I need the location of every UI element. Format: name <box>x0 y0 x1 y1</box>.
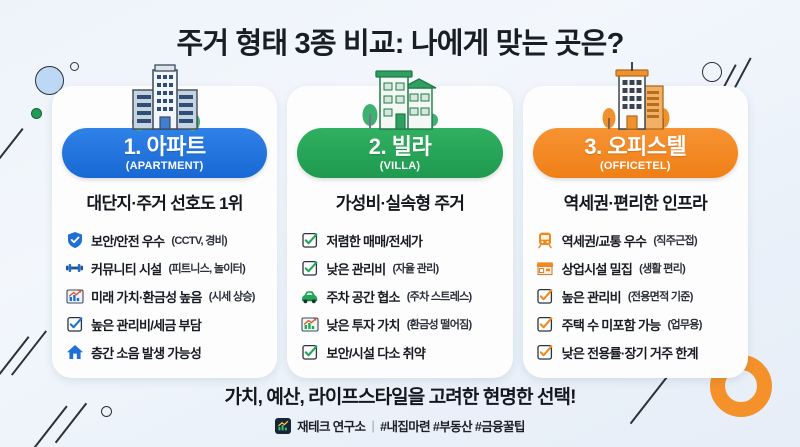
feature-item: 높은 관리비 (전용면적 기준) <box>536 282 735 310</box>
feature-text: 보안/안전 우수 <box>91 231 164 250</box>
feature-item: 상업시설 밀집 (생활 편리) <box>536 254 735 282</box>
checkbox-check-icon <box>536 287 555 306</box>
decor-dot-green <box>31 108 42 119</box>
checkbox-check-icon <box>536 315 555 334</box>
feature-text: 커뮤니티 시설 <box>91 259 161 278</box>
checkbox-check-icon <box>300 259 319 278</box>
feature-text: 보안/시설 다소 취약 <box>326 343 425 362</box>
card-officetel-subtitle: (OFFICETEL) <box>533 160 738 172</box>
bar-chart-up-icon <box>65 287 84 306</box>
house-icon <box>65 343 84 362</box>
footer-meta: 재테크 연구소 | #내집마련 #부동산 #금융꿀팁 <box>0 416 800 435</box>
feature-text: 높은 관리비 <box>562 287 621 306</box>
feature-text: 높은 관리비/세금 부담 <box>91 315 201 334</box>
card-apartment-feature-list: 보안/안전 우수 (CCTV, 경비) 커뮤니티 시설 (피트니스, 놀이터) … <box>52 226 277 366</box>
feature-item: 낮은 관리비 (자율 관리) <box>300 254 499 282</box>
feature-item: 보안/안전 우수 (CCTV, 경비) <box>65 226 264 254</box>
feature-item: 미래 가치·환금성 높음 (시세 상승) <box>65 282 264 310</box>
car-icon <box>300 287 319 306</box>
page-title: 주거 형태 3종 비교: 나에게 맞는 곳은? <box>0 20 800 62</box>
card-apartment-pill: 1. 아파트 (APARTMENT) <box>62 128 267 178</box>
villa-building-illustration <box>287 60 512 132</box>
feature-note: (시세 상승) <box>209 288 255 304</box>
train-icon <box>536 231 555 250</box>
brand-name: 재테크 연구소 <box>297 416 365 435</box>
feature-note: (전용면적 기준) <box>628 288 693 304</box>
feature-item: 낮은 전용률·장기 거주 한계 <box>536 338 735 366</box>
card-villa-pill: 2. 빌라 (VILLA) <box>297 128 502 178</box>
card-villa[interactable]: 2. 빌라 (VILLA) 가성비·실속형 주거 저렴한 매매/전세가 낮은 관… <box>287 86 512 378</box>
card-villa-feature-list: 저렴한 매매/전세가 낮은 관리비 (자율 관리) 주차 공간 협소 (주차 스… <box>287 226 512 366</box>
apartment-building-illustration <box>52 60 277 132</box>
comparison-cards: 1. 아파트 (APARTMENT) 대단지·주거 선호도 1위 보안/안전 우… <box>52 86 748 378</box>
bar-chart-up-icon <box>300 315 319 334</box>
feature-note: (업무용) <box>667 316 701 332</box>
feature-text: 낮은 투자 가치 <box>326 315 399 334</box>
feature-note: (피트니스, 놀이터) <box>168 260 245 276</box>
feature-note: (환금성 떨어짐) <box>407 316 472 332</box>
card-officetel-tagline: 역세권·편리한 인프라 <box>523 189 748 214</box>
chart-badge-icon <box>275 418 291 434</box>
feature-note: (자율 관리) <box>393 260 439 276</box>
decor-line-top-left <box>0 128 24 184</box>
footer-hashtags: #내집마련 #부동산 #금융꿀팁 <box>380 416 525 435</box>
feature-item: 층간 소음 발생 가능성 <box>65 338 264 366</box>
feature-item: 커뮤니티 시설 (피트니스, 놀이터) <box>65 254 264 282</box>
checkbox-check-icon <box>300 231 319 250</box>
footer-conclusion: 가치, 예산, 라이프스타일을 고려한 현명한 선택! <box>0 382 800 409</box>
feature-item: 주택 수 미포함 가능 (업무용) <box>536 310 735 338</box>
feature-note: (주차 스트레스) <box>407 288 472 304</box>
footer-divider: | <box>371 419 374 433</box>
feature-text: 역세권/교통 우수 <box>562 231 647 250</box>
card-villa-subtitle: (VILLA) <box>297 160 502 172</box>
feature-note: (직주근접) <box>653 232 697 248</box>
card-apartment-subtitle: (APARTMENT) <box>62 160 267 172</box>
checkbox-check-icon <box>65 315 84 334</box>
shield-check-icon <box>65 231 84 250</box>
feature-item: 낮은 투자 가치 (환금성 떨어짐) <box>300 310 499 338</box>
card-villa-title: 2. 빌라 <box>297 135 502 159</box>
feature-item: 높은 관리비/세금 부담 <box>65 310 264 338</box>
feature-item: 역세권/교통 우수 (직주근접) <box>536 226 735 254</box>
feature-text: 주차 공간 협소 <box>326 287 399 306</box>
card-apartment-title: 1. 아파트 <box>62 135 267 159</box>
decor-line-bottom-left-2 <box>11 330 47 375</box>
feature-item: 저렴한 매매/전세가 <box>300 226 499 254</box>
card-officetel-pill: 3. 오피스텔 (OFFICETEL) <box>533 128 738 178</box>
dumbbell-icon <box>65 259 84 278</box>
feature-text: 낮은 관리비 <box>326 259 385 278</box>
footer: 가치, 예산, 라이프스타일을 고려한 현명한 선택! 재테크 연구소 | #내… <box>0 382 800 435</box>
decor-line-bottom-left-1 <box>0 336 29 388</box>
feature-item: 주차 공간 협소 (주차 스트레스) <box>300 282 499 310</box>
card-officetel-feature-list: 역세권/교통 우수 (직주근접) 상업시설 밀집 (생활 편리) 높은 관리비 … <box>523 226 748 366</box>
store-icon <box>536 259 555 278</box>
card-villa-tagline: 가성비·실속형 주거 <box>287 189 512 214</box>
checkbox-check-icon <box>536 343 555 362</box>
card-apartment[interactable]: 1. 아파트 (APARTMENT) 대단지·주거 선호도 1위 보안/안전 우… <box>52 86 277 378</box>
checkbox-check-icon <box>300 343 319 362</box>
officetel-building-illustration <box>523 60 748 132</box>
feature-text: 미래 가치·환금성 높음 <box>91 287 202 306</box>
card-apartment-tagline: 대단지·주거 선호도 1위 <box>52 189 277 214</box>
feature-text: 주택 수 미포함 가능 <box>562 315 661 334</box>
feature-text: 낮은 전용률·장기 거주 한계 <box>562 343 698 362</box>
card-officetel-title: 3. 오피스텔 <box>533 135 738 159</box>
feature-note: (CCTV, 경비) <box>171 232 227 248</box>
feature-text: 저렴한 매매/전세가 <box>326 231 422 250</box>
card-officetel[interactable]: 3. 오피스텔 (OFFICETEL) 역세권·편리한 인프라 역세권/교통 우… <box>523 86 748 378</box>
feature-text: 상업시설 밀집 <box>562 259 632 278</box>
feature-note: (생활 편리) <box>639 260 685 276</box>
feature-item: 보안/시설 다소 취약 <box>300 338 499 366</box>
feature-text: 층간 소음 발생 가능성 <box>91 343 201 362</box>
